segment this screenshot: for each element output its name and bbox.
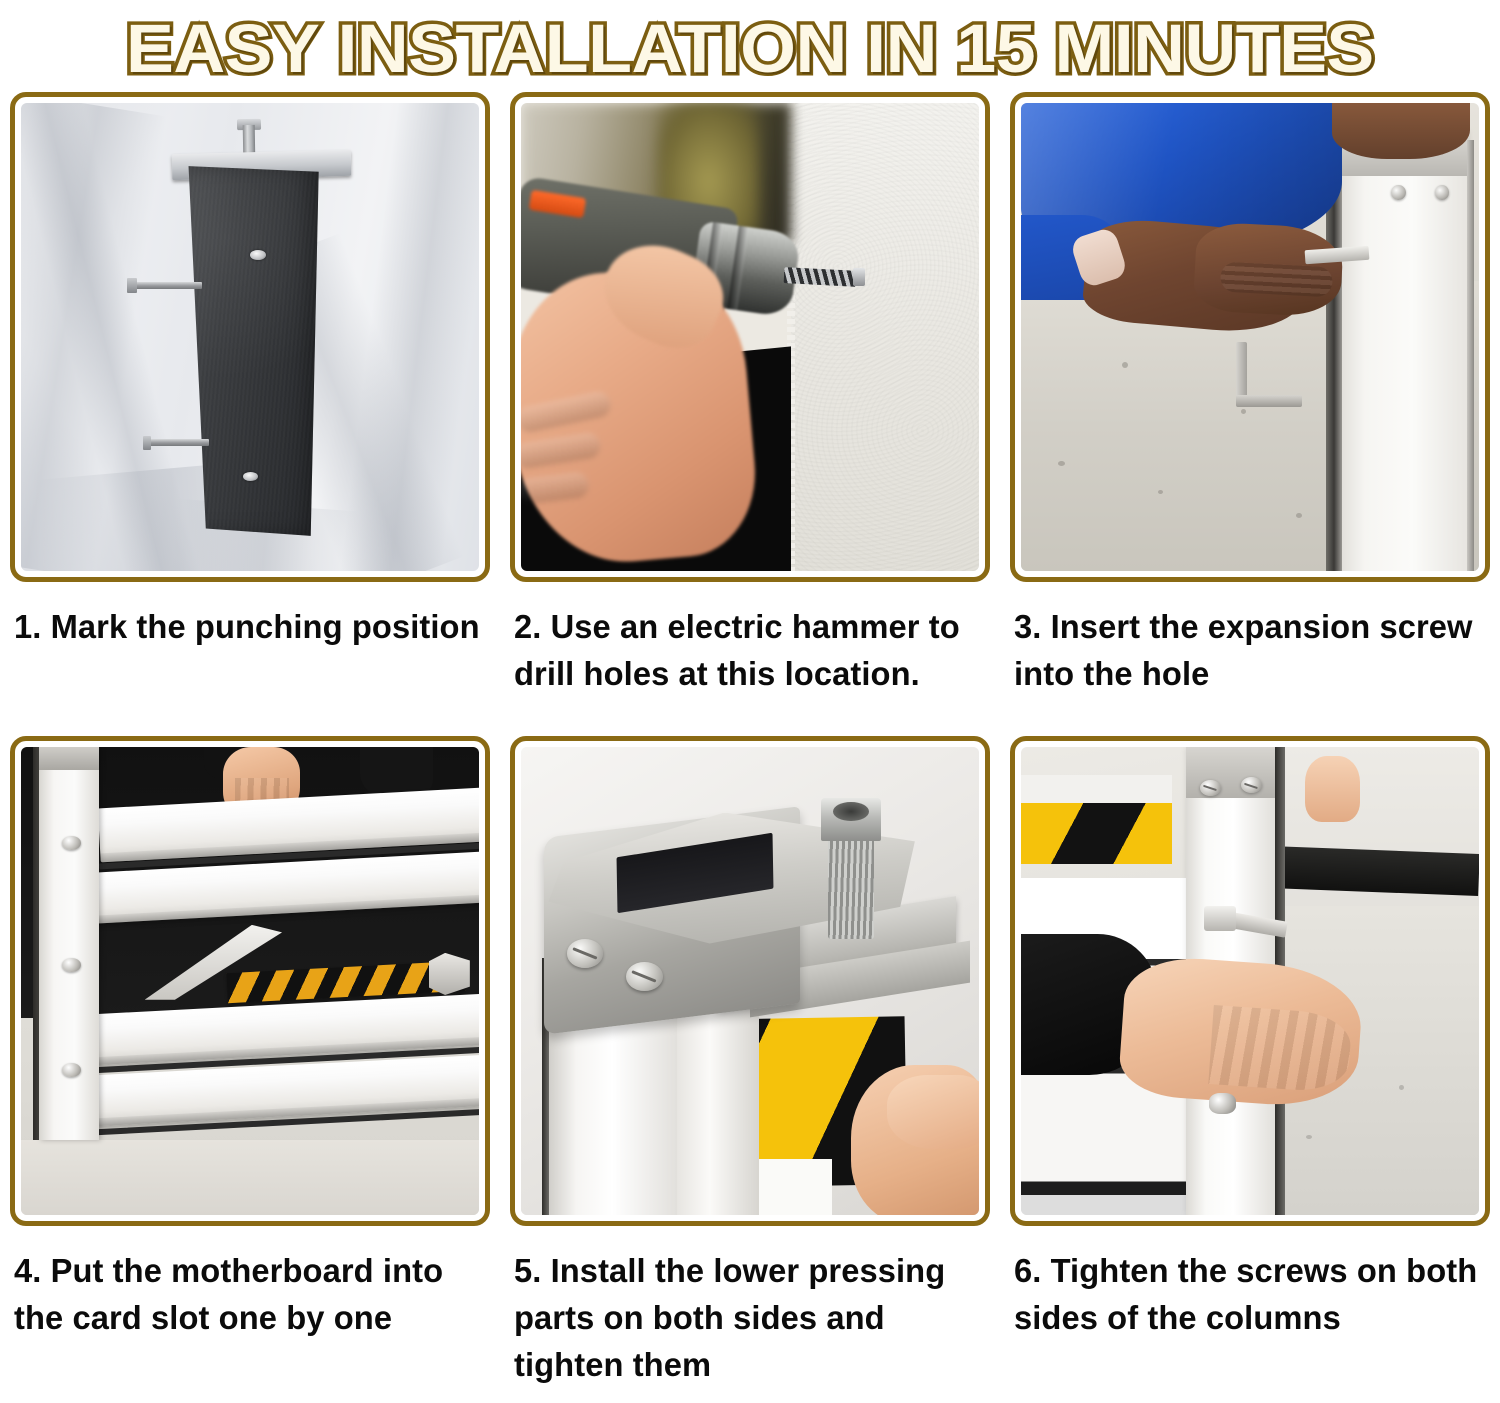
wall-baseboard xyxy=(1268,846,1479,896)
step-card-4: 4. Put the motherboard into the card slo… xyxy=(10,736,490,1389)
wall-surface xyxy=(791,103,979,571)
step-photo-frame-6 xyxy=(1010,736,1490,1226)
post-stud-upper xyxy=(129,282,202,289)
step-photo-2 xyxy=(521,103,979,571)
steps-row-top: 1. Mark the punching position xyxy=(10,92,1490,716)
step-card-5: 5. Install the lower pressing parts on b… xyxy=(510,736,990,1389)
step-photo-6 xyxy=(1021,747,1479,1215)
step-photo-frame-4 xyxy=(10,736,490,1226)
step-photo-5 xyxy=(521,747,979,1215)
step-card-2: 2. Use an electric hammer to drill holes… xyxy=(510,92,990,716)
step-caption-5: 5. Install the lower pressing parts on b… xyxy=(510,1226,985,1389)
hazard-stripe xyxy=(1021,803,1172,864)
step-photo-frame-3 xyxy=(1010,92,1490,582)
step-caption-6: 6. Tighten the screws on both sides of t… xyxy=(1010,1226,1485,1388)
step-photo-frame-5 xyxy=(510,736,990,1226)
drill-mark-hole-lower xyxy=(243,472,258,481)
page-header: EASY INSTALLATION IN 15 MINUTES xyxy=(0,0,1500,92)
step-photo-frame-2 xyxy=(510,92,990,582)
bolt-head-icon xyxy=(821,798,881,840)
step-caption-1: 1. Mark the punching position xyxy=(10,582,485,716)
page-title: EASY INSTALLATION IN 15 MINUTES xyxy=(126,14,1374,83)
column-screw-2 xyxy=(1435,185,1450,200)
step-caption-4: 4. Put the motherboard into the card slo… xyxy=(10,1226,485,1388)
step-photo-1 xyxy=(21,103,479,571)
card-slot-column xyxy=(39,747,99,1140)
step-card-3: 3. Insert the expansion screw into the h… xyxy=(1010,92,1490,716)
white-column xyxy=(1342,131,1470,571)
steps-row-bottom: 4. Put the motherboard into the card slo… xyxy=(10,736,1490,1389)
column-screw-1 xyxy=(1200,780,1221,796)
step-caption-3: 3. Insert the expansion screw into the h… xyxy=(1010,582,1485,716)
step-card-6: 6. Tighten the screws on both sides of t… xyxy=(1010,736,1490,1389)
post-stud-lower xyxy=(145,439,209,446)
worker-hand xyxy=(1193,221,1344,317)
steps-grid: 1. Mark the punching position xyxy=(0,92,1500,1389)
allen-wrench-icon xyxy=(1236,342,1247,408)
step-photo-frame-1 xyxy=(10,92,490,582)
step-photo-4 xyxy=(21,747,479,1215)
column-screw-1 xyxy=(1391,185,1406,200)
step-caption-2: 2. Use an electric hammer to drill holes… xyxy=(510,582,985,716)
step-card-1: 1. Mark the punching position xyxy=(10,92,490,716)
step-photo-3 xyxy=(1021,103,1479,571)
bracket-screw-1 xyxy=(567,939,604,968)
column-screw-lower xyxy=(1209,1093,1236,1114)
